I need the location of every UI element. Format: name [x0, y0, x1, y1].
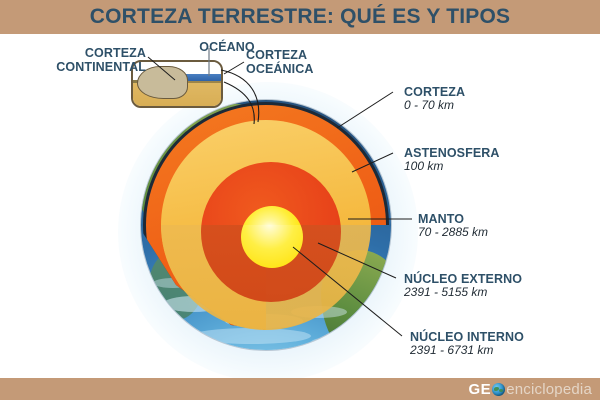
- label-layer-outer-core: NÚCLEO EXTERNO 2391 - 5155 km: [404, 272, 522, 300]
- label-layer-asthenosphere-name: ASTENOSFERA: [404, 146, 500, 160]
- layer-outer-core: [201, 162, 341, 302]
- site-logo: GE enciclopedia: [469, 378, 592, 400]
- page-title: CORTEZA TERRESTRE: QUÉ ES Y TIPOS: [90, 5, 510, 29]
- globe-icon: [492, 383, 505, 396]
- logo-enciclopedia-text: enciclopedia: [506, 381, 592, 398]
- header-band: CORTEZA TERRESTRE: QUÉ ES Y TIPOS: [0, 0, 600, 34]
- label-layer-outer-core-depth: 2391 - 5155 km: [404, 286, 522, 300]
- label-continental-crust-line2: CONTINENTAL: [26, 60, 146, 74]
- label-continental-crust-line1: CORTEZA: [26, 46, 146, 60]
- cloud-icon: [311, 336, 381, 348]
- label-layer-crust-depth: 0 - 70 km: [404, 99, 465, 113]
- label-oceanic-crust-line2: OCEÁNICA: [246, 62, 336, 76]
- label-layer-asthenosphere: ASTENOSFERA 100 km: [404, 146, 500, 174]
- label-layer-asthenosphere-depth: 100 km: [404, 160, 500, 174]
- label-layer-outer-core-name: NÚCLEO EXTERNO: [404, 272, 522, 286]
- cloud-icon: [291, 306, 347, 318]
- label-layer-inner-core: NÚCLEO INTERNO 2391 - 6731 km: [410, 330, 524, 358]
- label-layer-crust: CORTEZA 0 - 70 km: [404, 85, 465, 113]
- label-layer-mantle: MANTO 70 - 2885 km: [418, 212, 488, 240]
- landmass-icon: [321, 250, 391, 350]
- label-layer-crust-name: CORTEZA: [404, 85, 465, 99]
- cloud-icon: [191, 328, 311, 344]
- label-layer-inner-core-name: NÚCLEO INTERNO: [410, 330, 524, 344]
- label-layer-mantle-name: MANTO: [418, 212, 488, 226]
- footer-band: GE enciclopedia: [0, 378, 600, 400]
- layer-inner-core: [241, 206, 303, 268]
- label-oceanic-crust-line1: CORTEZA: [246, 48, 336, 62]
- infographic-canvas: CORTEZA TERRESTRE: QUÉ ES Y TIPOS: [0, 0, 600, 400]
- label-oceanic-crust: CORTEZA OCEÁNICA: [246, 48, 336, 77]
- label-continental-crust: CORTEZA CONTINENTAL: [26, 46, 146, 75]
- logo-geo-text: GE: [469, 381, 492, 398]
- label-layer-inner-core-depth: 2391 - 6731 km: [410, 344, 524, 358]
- label-layer-mantle-depth: 70 - 2885 km: [418, 226, 488, 240]
- earth-globe: [141, 100, 391, 350]
